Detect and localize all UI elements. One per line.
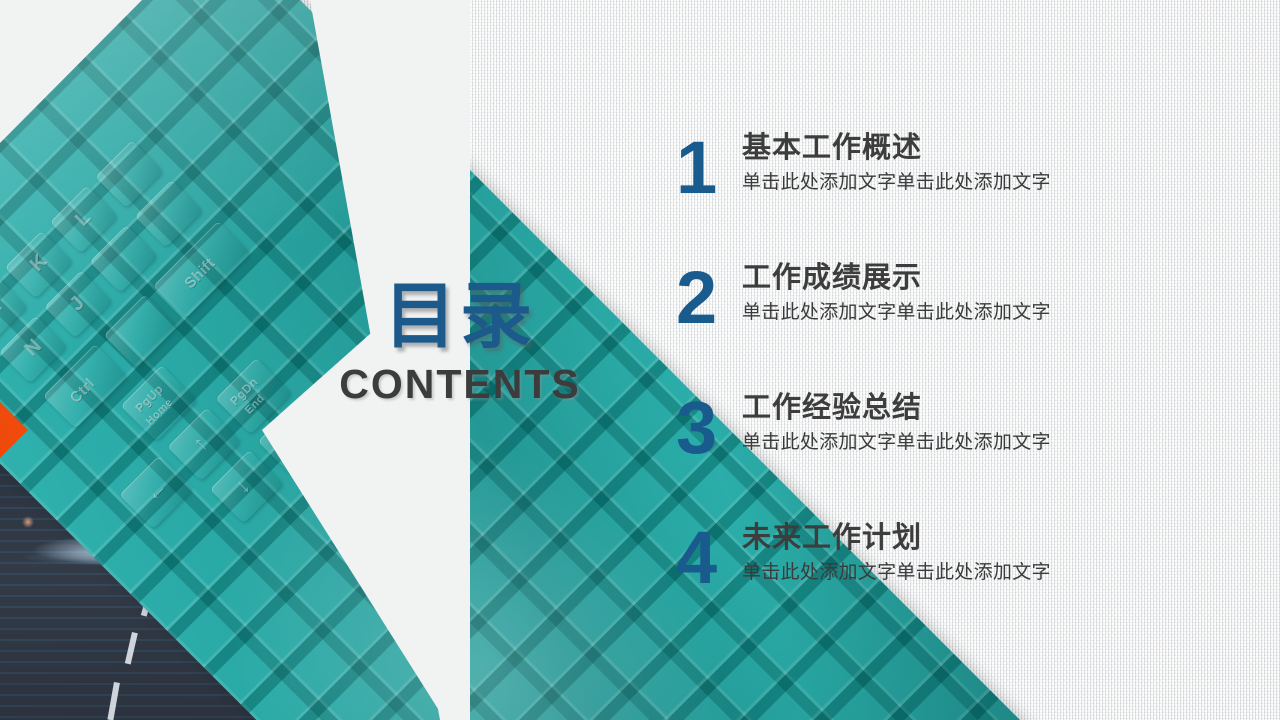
list-item-description: 单击此处添加文字单击此处添加文字 [742,560,1236,586]
page-title-en: CONTENTS [300,364,620,405]
list-item[interactable]: 4 未来工作计划 单击此处添加文字单击此处添加文字 [676,518,1236,648]
list-item-number: 3 [676,388,742,462]
list-item-title: 未来工作计划 [742,520,1236,554]
list-item-description: 单击此处添加文字单击此处添加文字 [742,170,1236,196]
list-item-number: 4 [676,518,742,592]
list-item-title: 工作成绩展示 [742,260,1236,294]
slide-canvas: Ctrl Shift PgUp Home PgDn End ← ↑ ↓ → M … [0,0,1280,720]
list-item-description: 单击此处添加文字单击此处添加文字 [742,300,1236,326]
contents-list: 1 基本工作概述 单击此处添加文字单击此处添加文字 2 工作成绩展示 单击此处添… [676,128,1236,648]
list-item[interactable]: 2 工作成绩展示 单击此处添加文字单击此处添加文字 [676,258,1236,388]
list-item-title: 基本工作概述 [742,130,1236,164]
list-item-description: 单击此处添加文字单击此处添加文字 [742,430,1236,456]
slide-title-block: 目录 CONTENTS [300,280,620,405]
road-dash [107,682,120,720]
list-item[interactable]: 1 基本工作概述 单击此处添加文字单击此处添加文字 [676,128,1236,258]
road-dash [125,632,138,665]
page-title-cn: 目录 [300,280,620,352]
list-item-title: 工作经验总结 [742,390,1236,424]
list-item-number: 2 [676,258,742,332]
list-item-number: 1 [676,128,742,202]
list-item[interactable]: 3 工作经验总结 单击此处添加文字单击此处添加文字 [676,388,1236,518]
